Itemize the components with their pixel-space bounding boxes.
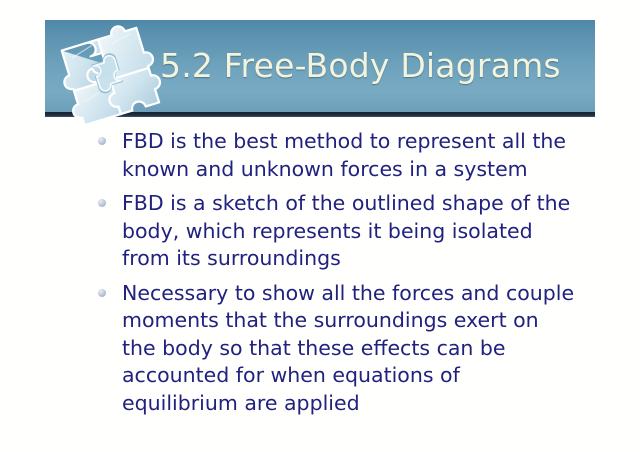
list-item: FBD is a sketch of the outlined shape of… [96, 190, 576, 273]
bullet-text: Necessary to show all the forces and cou… [122, 280, 576, 418]
page-title: 5.2 Free-Body Diagrams [160, 46, 561, 86]
bullet-list: FBD is the best method to represent all … [96, 128, 576, 424]
list-item: Necessary to show all the forces and cou… [96, 280, 576, 418]
list-item: FBD is the best method to represent all … [96, 128, 576, 183]
bullet-dot-icon [98, 289, 106, 297]
bullet-dot-icon [98, 199, 106, 207]
bullet-dot-icon [98, 137, 106, 145]
bullet-text: FBD is the best method to represent all … [122, 128, 576, 183]
bullet-text: FBD is a sketch of the outlined shape of… [122, 190, 576, 273]
banner-divider-rule [45, 112, 595, 117]
slide: 5.2 Free-Body Diagrams [0, 0, 640, 452]
